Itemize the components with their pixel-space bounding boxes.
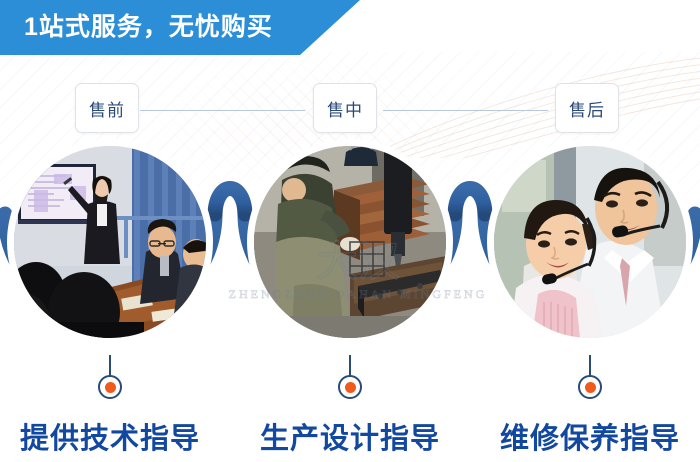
step-photo-after-sale [494, 146, 686, 338]
pin-stem [109, 355, 111, 377]
step-marker-pin-pre-sale [98, 355, 122, 403]
pin-dot-inner [345, 382, 356, 393]
pin-dot-outer [578, 375, 602, 399]
step-marker-pin-in-sale [338, 355, 362, 403]
pin-dot-inner [585, 382, 596, 393]
step-connector-rail-1 [140, 110, 305, 111]
banner-title: 1站式服务，无忧购买 [24, 0, 273, 55]
step-connector-rail-2 [383, 110, 548, 111]
step-caption-after-sale: 维修保养指导 [470, 415, 700, 457]
step-caption-in-sale: 生产设计指导 [230, 415, 470, 457]
step-chip-label: 售中 [327, 96, 363, 121]
step-photo-pre-sale [14, 146, 206, 338]
pin-dot-outer [98, 375, 122, 399]
step-chip-label: 售前 [89, 96, 125, 121]
pin-stem [349, 355, 351, 377]
step-marker-pin-after-sale [578, 355, 602, 403]
step-caption-pre-sale: 提供技术指导 [0, 415, 230, 457]
pin-dot-outer [338, 375, 362, 399]
pin-dot-inner [105, 382, 116, 393]
step-chip-label: 售后 [569, 96, 605, 121]
step-chip-after-sale[interactable]: 售后 [555, 83, 619, 133]
step-chip-in-sale[interactable]: 售中 [313, 83, 377, 133]
promo-graphic: 1站式服务，无忧购买 [0, 0, 700, 462]
step-chip-pre-sale[interactable]: 售前 [75, 83, 139, 133]
pin-stem [589, 355, 591, 377]
step-photo-in-sale [254, 146, 446, 338]
